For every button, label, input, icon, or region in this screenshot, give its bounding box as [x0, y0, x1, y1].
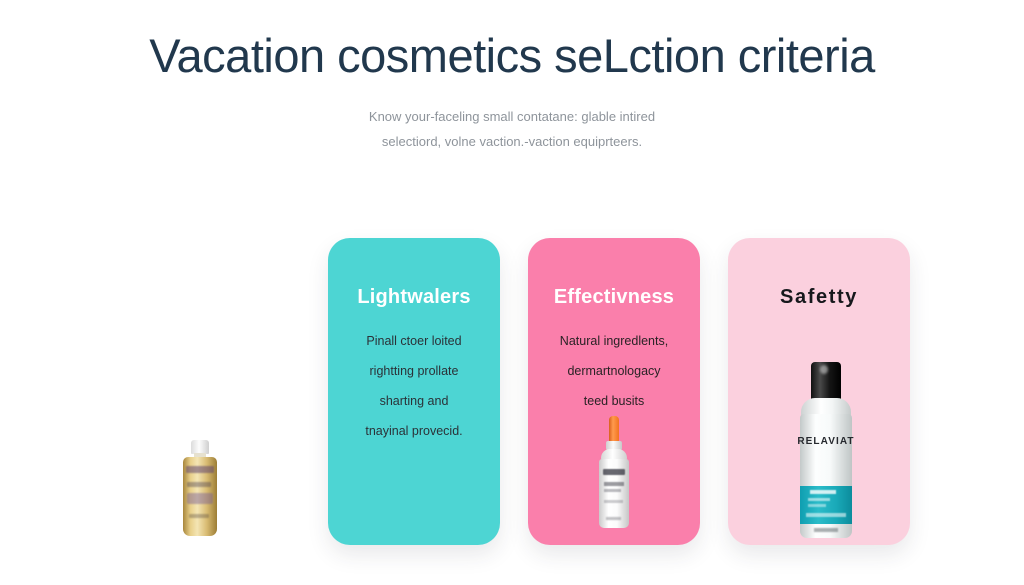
card-body-line: dermartnologacy [528, 356, 700, 386]
card-title: Lightwalers [328, 286, 500, 309]
bottle-label-subtitle [187, 482, 211, 487]
relaviat-bottle-black-cap: RELAVIAT [796, 362, 856, 538]
criteria-card-lightwalers[interactable]: Lightwalers Pinall ctoer loited righttin… [328, 238, 500, 545]
bottle-cap-icon [609, 416, 619, 442]
card-body-line: rightting prollate [328, 356, 500, 386]
criteria-card-safetty[interactable]: Safetty RELAVIAT [728, 238, 910, 545]
bottle-label-band [187, 493, 213, 504]
card-body: Natural ingredlents, dermartnologacy tee… [528, 326, 700, 416]
card-body-line: Pinall ctoer loited [328, 326, 500, 356]
card-body-line: tnayinal provecid. [328, 416, 500, 446]
page-subtitle: Know your-faceling small contatane: glab… [280, 104, 744, 154]
bottle-label-line [604, 482, 624, 486]
bottle-label-brand: RELAVIAT [796, 436, 856, 447]
bottle-label-line [808, 504, 826, 507]
page-subtitle-line-1: Know your-faceling small contatane: glab… [280, 104, 744, 129]
card-body: Pinall ctoer loited rightting prollate s… [328, 326, 500, 446]
amber-travel-bottle [182, 440, 218, 536]
page-subtitle-line-2: selectiord, volne vaction.-vaction equip… [280, 129, 744, 154]
card-body-line: Natural ingredlents, [528, 326, 700, 356]
card-body-line: teed busits [528, 386, 700, 416]
bottle-label-brand [603, 469, 625, 475]
page-title: Vacation cosmetics seLction criteria [0, 28, 1024, 83]
spray-bottle-orange-cap [593, 416, 635, 528]
bottle-label-footer [606, 517, 621, 520]
slide-canvas: Vacation cosmetics seLction criteria Kno… [0, 0, 1024, 585]
bottle-label-line [604, 489, 621, 492]
bottle-cap-icon [191, 440, 209, 454]
bottle-label-brand [186, 466, 214, 473]
bottle-label-line [806, 513, 846, 517]
bottle-label-line [604, 500, 623, 503]
criteria-card-effectivness[interactable]: Effectivness Natural ingredlents, dermar… [528, 238, 700, 545]
card-title: Safetty [728, 286, 910, 309]
bottle-cap-highlight [820, 365, 828, 374]
bottle-label-footer [814, 528, 838, 532]
bottle-label-line [808, 498, 830, 501]
bottle-label-line [810, 490, 836, 494]
bottle-label-footer [189, 514, 209, 518]
card-title: Effectivness [528, 286, 700, 309]
card-body-line: sharting and [328, 386, 500, 416]
